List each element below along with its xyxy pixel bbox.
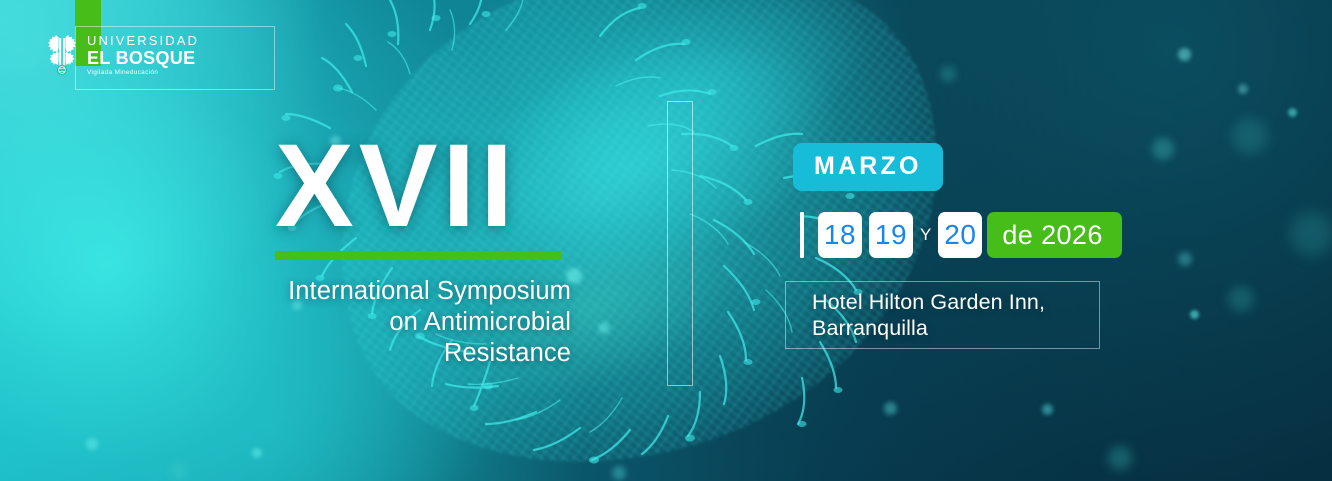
day-value-3: 20 [944, 219, 976, 251]
day-chip-1: 18 [818, 212, 862, 258]
event-subtitle-line2: on Antimicrobial Resistance [389, 308, 571, 367]
event-dates-row: 18 19 Y 20 de 2026 [800, 212, 1122, 258]
day-value-2: 19 [875, 219, 907, 251]
bokeh-dot [170, 462, 188, 480]
venue-text: Hotel Hilton Garden Inn, Barranquilla [786, 289, 1045, 341]
bokeh-dot [1290, 212, 1332, 256]
event-edition-number: XVII [275, 132, 575, 241]
day-chip-3: 20 [938, 212, 982, 258]
event-banner: UNIVERSIDAD EL BOSQUE Vigilada Mineducac… [0, 0, 1332, 481]
bokeh-dot [252, 448, 262, 458]
university-logo: UNIVERSIDAD EL BOSQUE Vigilada Mineducac… [45, 34, 199, 77]
logo-line-vigilada: Vigilada Mineducación [87, 70, 199, 77]
event-subtitle-line1: International Symposium [288, 277, 571, 305]
event-subtitle: International Symposium on Antimicrobial… [275, 276, 571, 369]
bokeh-dot [1228, 286, 1254, 312]
bokeh-dot [86, 438, 98, 450]
date-conjunction: Y [920, 225, 931, 245]
venue-box: Hotel Hilton Garden Inn, Barranquilla [785, 281, 1100, 349]
bokeh-dot [1042, 404, 1053, 415]
bokeh-dot [1152, 138, 1174, 160]
event-title-block: XVII International Symposium on Antimicr… [275, 132, 575, 369]
bokeh-dot [1238, 84, 1248, 94]
date-tick-mark [800, 212, 804, 258]
day-chip-2: 19 [869, 212, 913, 258]
bokeh-dot [1178, 48, 1191, 61]
month-badge: MARZO [793, 143, 943, 191]
bokeh-dot [1108, 446, 1132, 470]
logo-line-el-bosque: EL BOSQUE [87, 49, 199, 67]
tree-emblem-icon [45, 34, 79, 76]
venue-line2: Barranquilla [812, 316, 928, 340]
bokeh-dot [1178, 252, 1192, 266]
month-label: MARZO [814, 152, 922, 180]
bokeh-dot [1232, 118, 1268, 154]
logo-line-universidad: UNIVERSIDAD [87, 34, 199, 47]
venue-line1: Hotel Hilton Garden Inn, [812, 290, 1045, 314]
bokeh-dot [1190, 310, 1199, 319]
year-label: de 2026 [1002, 220, 1102, 251]
vertical-divider-rectangle [667, 101, 693, 386]
bokeh-dot [1288, 108, 1297, 117]
day-value-1: 18 [824, 219, 856, 251]
year-chip: de 2026 [987, 212, 1121, 258]
